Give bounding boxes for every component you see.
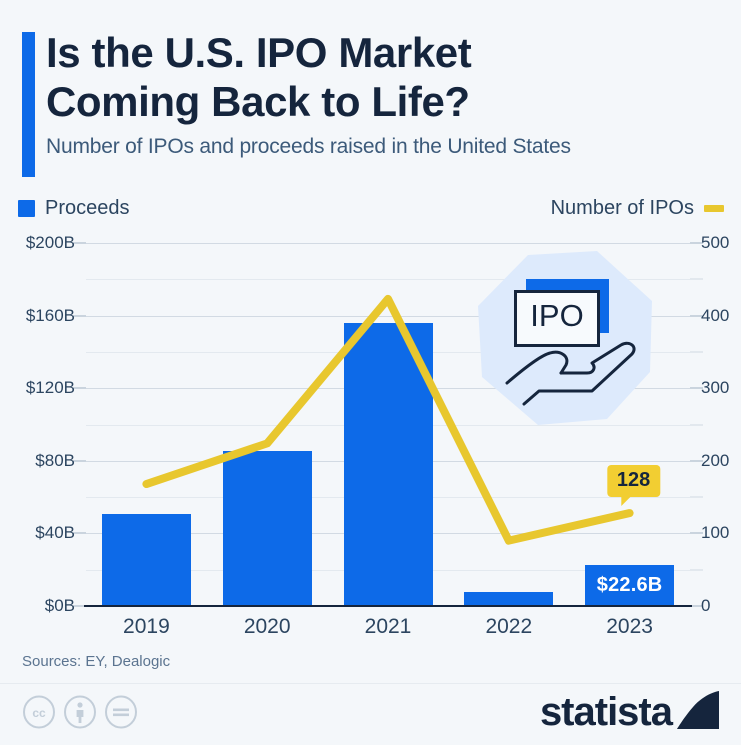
y-tick-mark-right-minor <box>690 279 703 280</box>
footer-divider <box>0 683 741 684</box>
x-axis-tick-label: 2021 <box>365 615 412 639</box>
y-axis-tick-label-right: 100 <box>701 523 729 543</box>
y-axis-tick-label-right: 400 <box>701 306 729 326</box>
y-axis-tick-label-left: $200B <box>26 233 75 253</box>
x-axis-tick-label: 2023 <box>606 615 653 639</box>
y-axis-tick-label-left: $160B <box>26 306 75 326</box>
statista-mark-icon <box>675 689 721 731</box>
y-axis-tick-label-left: $80B <box>35 451 75 471</box>
legend-item-number-of-ipos[interactable]: Number of IPOs <box>551 197 724 220</box>
cc-by-icon <box>63 695 97 729</box>
statista-wordmark: statista <box>540 693 672 731</box>
hand-holding-ipo-card-illustration: IPO <box>466 249 661 429</box>
statista-logo[interactable]: statista <box>540 689 721 731</box>
page-title-line-2: Coming Back to Life? <box>46 77 722 126</box>
x-axis-tick-label: 2022 <box>485 615 532 639</box>
y-axis-tick-label-left: $120B <box>26 378 75 398</box>
svg-text:cc: cc <box>32 706 46 720</box>
creative-commons-icons: cc <box>22 695 138 729</box>
y-axis-tick-label-right: 500 <box>701 233 729 253</box>
cc-icon: cc <box>22 695 56 729</box>
x-axis-tick-label: 2020 <box>244 615 291 639</box>
y-tick-mark-right-minor <box>690 569 703 570</box>
legend-label-proceeds: Proceeds <box>45 197 130 220</box>
cc-nd-icon <box>104 695 138 729</box>
page-title: Is the U.S. IPO Market Coming Back to Li… <box>46 28 722 126</box>
y-axis-tick-label-right: 300 <box>701 378 729 398</box>
y-tick-mark-right-minor <box>690 497 703 498</box>
square-swatch-icon <box>18 200 35 217</box>
title-accent-bar <box>22 32 35 177</box>
source-note: Sources: EY, Dealogic <box>22 653 170 670</box>
header: Is the U.S. IPO Market Coming Back to Li… <box>22 28 722 159</box>
line-swatch-icon <box>704 205 724 212</box>
infographic-root: Is the U.S. IPO Market Coming Back to Li… <box>0 0 741 745</box>
line-value-callout: 128 <box>607 465 660 497</box>
y-axis-tick-label-right: 0 <box>701 596 710 616</box>
x-axis-tick-label: 2019 <box>123 615 170 639</box>
y-tick-mark-right-minor <box>690 351 703 352</box>
card-label: IPO <box>530 298 583 333</box>
page-title-line-1: Is the U.S. IPO Market <box>46 28 722 77</box>
chart-legend: Proceeds Number of IPOs <box>18 193 724 223</box>
legend-item-proceeds[interactable]: Proceeds <box>18 197 130 220</box>
y-axis-tick-label-left: $40B <box>35 523 75 543</box>
y-axis-tick-label-right: 200 <box>701 451 729 471</box>
legend-label-number-of-ipos: Number of IPOs <box>551 197 694 220</box>
y-axis-tick-label-left: $0B <box>45 596 75 616</box>
y-tick-mark-right-minor <box>690 424 703 425</box>
page-subtitle: Number of IPOs and proceeds raised in th… <box>46 135 722 159</box>
